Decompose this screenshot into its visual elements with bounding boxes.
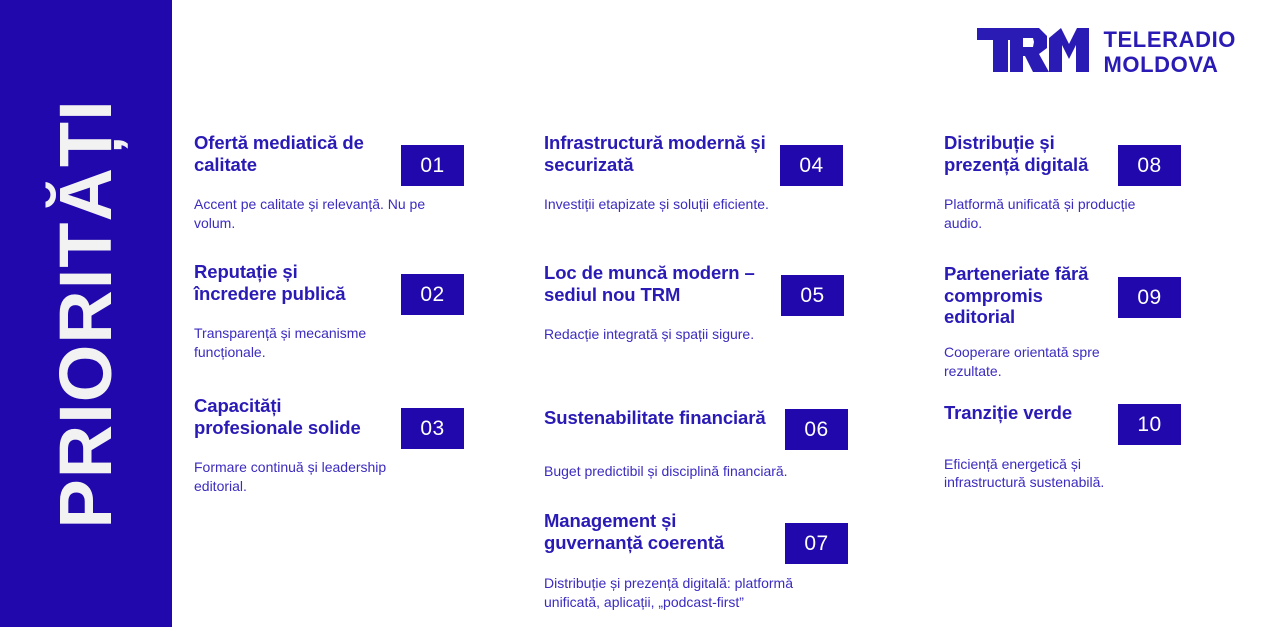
priority-title-06: Sustenabilitate financiară [544,407,784,429]
priority-head-05: Loc de muncă modern – sediul nou TRM 05 [544,262,864,305]
priority-title-01: Ofertă mediatică de calitate [194,132,394,175]
priority-desc-07: Distribuție și prezență digitală: platfo… [544,574,864,611]
priority-badge-06: 06 [785,409,848,450]
brand-line-2: MOLDOVA [1103,52,1218,77]
priority-desc-03: Formare continuă și leadership editorial… [194,458,484,495]
sidebar: PRIORITĂȚI [0,0,172,627]
priority-badge-07: 07 [785,523,848,564]
priority-badge-10: 10 [1118,404,1181,445]
priority-item-06[interactable]: Sustenabilitate financiară 06 Buget pred… [544,407,864,480]
priority-title-07: Management și guvernanță coerentă [544,510,774,553]
priority-head-03: Capacități profesionale solide 03 [194,395,484,438]
priority-badge-01: 01 [401,145,464,186]
priority-head-06: Sustenabilitate financiară 06 [544,407,864,429]
priority-head-09: Parteneriate fără compromis editorial 09 [944,263,1194,328]
priority-head-02: Reputație și încredere publică 02 [194,261,484,304]
priority-badge-03: 03 [401,408,464,449]
trm-logo-icon [977,26,1089,79]
priority-desc-01: Accent pe calitate și relevanță. Nu pe v… [194,195,484,232]
priority-title-10: Tranziție verde [944,402,1109,424]
priority-badge-09: 09 [1118,277,1181,318]
brand-logo: TELERADIO MOLDOVA [977,26,1236,79]
priority-item-04[interactable]: Infrastructură modernă și securizată 04 … [544,132,864,214]
priority-desc-02: Transparență și mecanisme funcționale. [194,324,484,361]
priority-item-03[interactable]: Capacități profesionale solide 03 Formar… [194,395,484,496]
priority-head-10: Tranziție verde 10 [944,402,1194,424]
priority-badge-04: 04 [780,145,843,186]
priority-head-04: Infrastructură modernă și securizată 04 [544,132,864,175]
priority-item-10[interactable]: Tranziție verde 10 Eficiență energetică … [944,402,1194,492]
page-title: PRIORITĂȚI [49,99,123,528]
priority-item-02[interactable]: Reputație și încredere publică 02 Transp… [194,261,484,362]
priority-badge-02: 02 [401,274,464,315]
priority-item-08[interactable]: Distribuție și prezență digitală 08 Plat… [944,132,1194,233]
priority-desc-08: Platformă unificată și producție audio. [944,195,1194,232]
priority-head-08: Distribuție și prezență digitală 08 [944,132,1194,175]
priority-badge-08: 08 [1118,145,1181,186]
priority-head-07: Management și guvernanță coerentă 07 [544,510,864,553]
priority-head-01: Ofertă mediatică de calitate 01 [194,132,484,175]
slide-root: PRIORITĂȚI TELERADIO MOLDOVA [0,0,1280,627]
priority-item-09[interactable]: Parteneriate fără compromis editorial 09… [944,263,1194,380]
priority-title-08: Distribuție și prezență digitală [944,132,1109,175]
priority-title-02: Reputație și încredere publică [194,261,394,304]
priority-item-01[interactable]: Ofertă mediatică de calitate 01 Accent p… [194,132,484,233]
priority-badge-05: 05 [781,275,844,316]
priority-desc-09: Cooperare orientată spre rezultate. [944,343,1194,380]
brand-wordmark: TELERADIO MOLDOVA [1103,28,1236,77]
priority-item-05[interactable]: Loc de muncă modern – sediul nou TRM 05 … [544,262,864,344]
priority-item-07[interactable]: Management și guvernanță coerentă 07 Dis… [544,510,864,612]
priority-desc-04: Investiții etapizate și soluții eficient… [544,195,864,214]
priority-title-09: Parteneriate fără compromis editorial [944,263,1109,328]
brand-line-1: TELERADIO [1103,27,1236,52]
priority-desc-06: Buget predictibil și disciplină financia… [544,462,864,481]
priority-title-03: Capacități profesionale solide [194,395,394,438]
priority-title-04: Infrastructură modernă și securizată [544,132,794,175]
priority-title-05: Loc de muncă modern – sediul nou TRM [544,262,774,305]
priority-desc-05: Redacție integrată și spații sigure. [544,325,864,344]
priority-desc-10: Eficiență energetică și infrastructură s… [944,455,1194,492]
